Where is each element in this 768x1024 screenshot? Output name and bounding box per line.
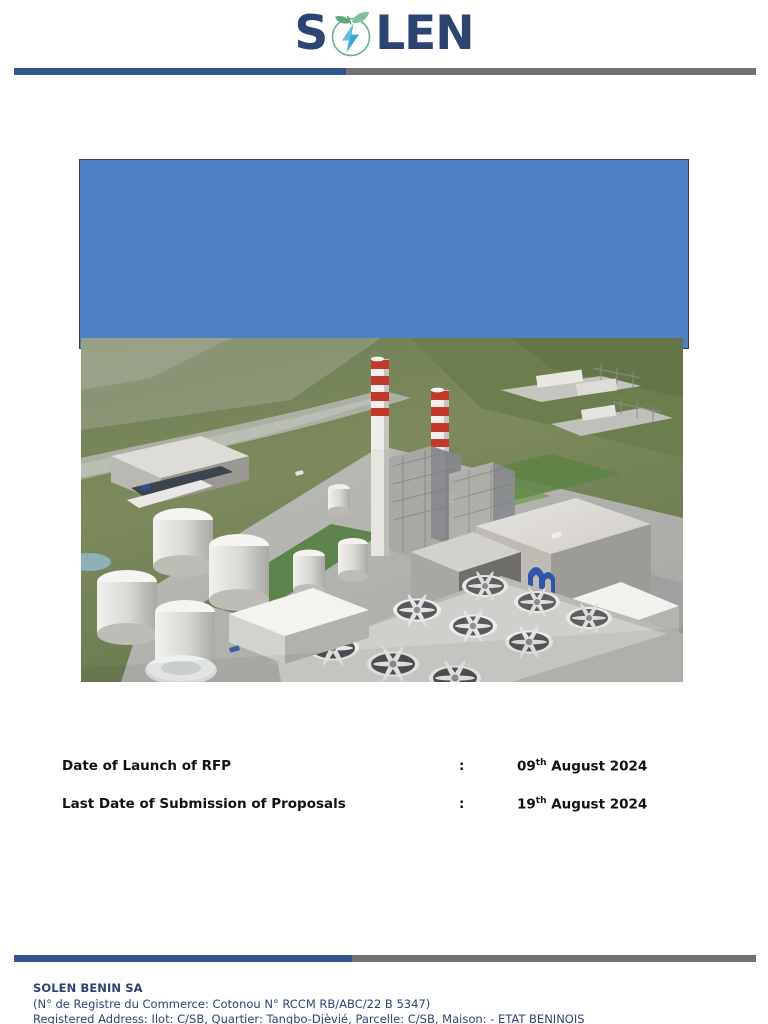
date-label-launch: Date of Launch of RFP [62,758,231,774]
logo-text-prefix: S [294,10,327,57]
date-month-year-submission: August 2024 [547,797,648,813]
footer-company-block: SOLEN BENIN SA (N° de Registre du Commer… [33,981,733,1024]
date-value-launch: 09th August 2024 [517,758,647,775]
date-separator-launch: : [459,758,464,774]
date-label-submission: Last Date of Submission of Proposals [62,796,346,812]
date-ordinal-submission: th [536,796,547,806]
footer-registered-address: Registered Address: Ilot: C/SB, Quartier… [33,1012,733,1024]
footer-divider-gray-segment [352,955,756,962]
header-divider-blue-segment [14,68,346,75]
header-divider [14,68,756,75]
header-divider-gray-segment [346,68,756,75]
power-plant-rendering [81,338,683,682]
footer-divider-blue-segment [14,955,352,962]
footer-divider [14,955,756,962]
leaf-lightning-circle-icon [326,7,376,59]
date-ordinal-launch: th [536,758,547,768]
key-dates-section: Date of Launch of RFP : 09th August 2024… [62,758,702,834]
footer-registration-number: (N° de Registre du Commerce: Cotonou N° … [33,997,733,1012]
brand-logo: S LEN [0,4,768,62]
date-row-submission: Last Date of Submission of Proposals : 1… [62,796,702,834]
date-value-submission: 19th August 2024 [517,796,647,813]
date-separator-submission: : [459,796,464,812]
title-block [79,159,689,349]
date-day-launch: 09 [517,759,536,775]
date-day-submission: 19 [517,797,536,813]
date-month-year-launch: August 2024 [547,759,648,775]
date-row-launch: Date of Launch of RFP : 09th August 2024 [62,758,702,796]
logo-text-suffix: LEN [375,10,473,57]
footer-company-name: SOLEN BENIN SA [33,981,733,996]
page-header: S LEN [0,0,768,78]
document-page: S LEN [0,0,768,1024]
